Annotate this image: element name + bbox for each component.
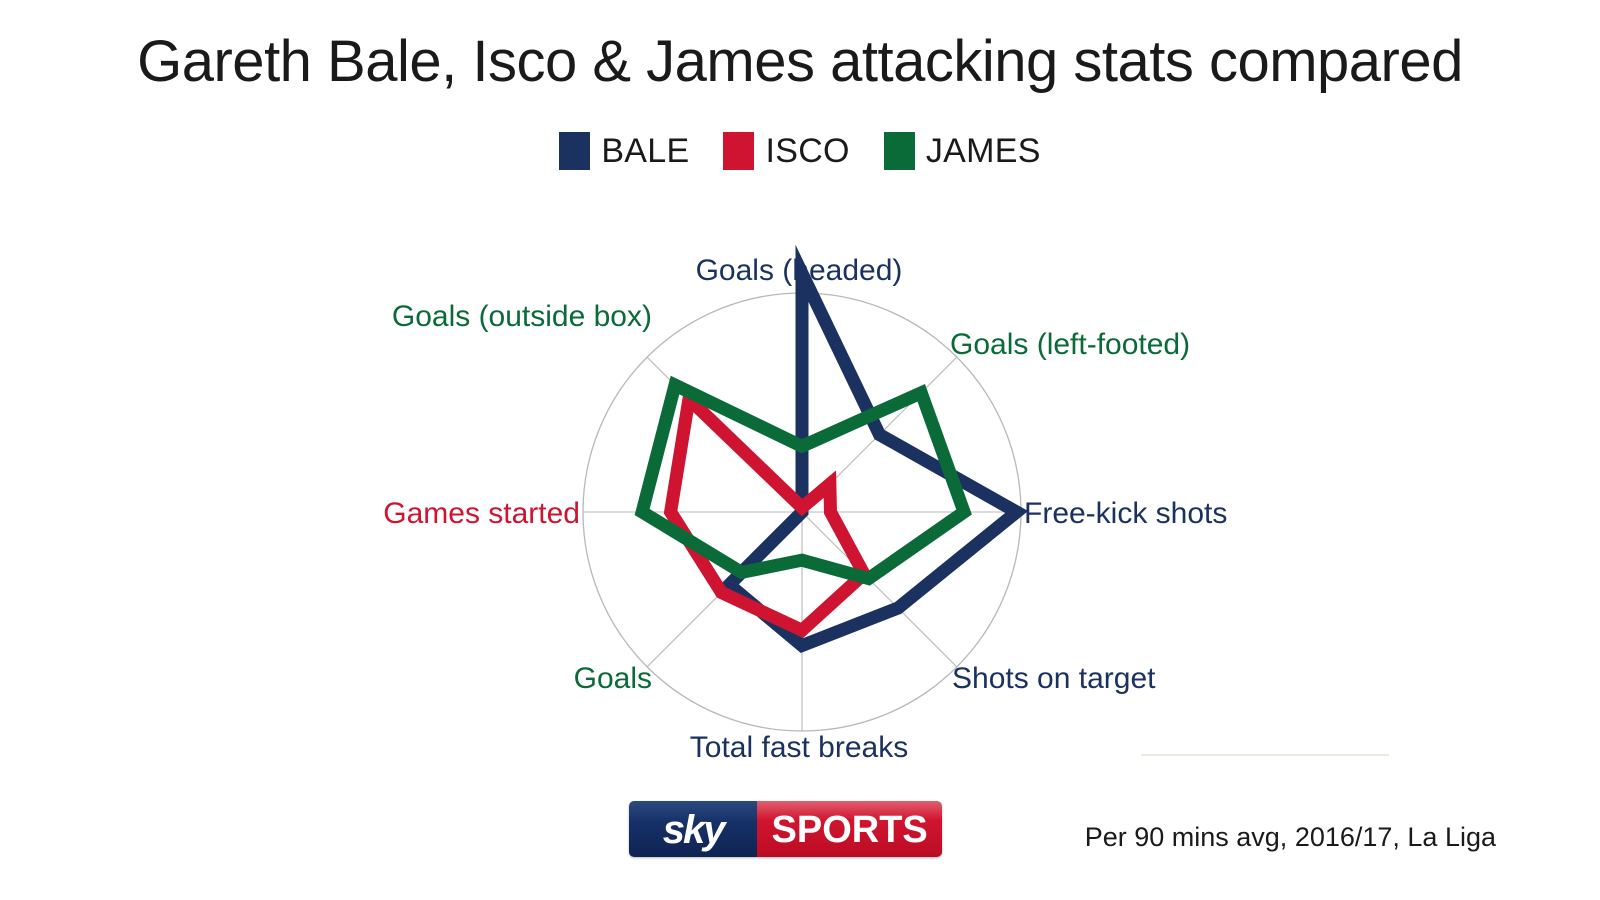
radar-series-james[interactable] bbox=[642, 385, 964, 579]
legend-swatch-isco-icon bbox=[723, 132, 754, 170]
legend-swatch-james-icon bbox=[884, 132, 915, 170]
legend-item-bale[interactable]: BALE bbox=[559, 132, 689, 170]
legend-label-james: JAMES bbox=[926, 134, 1041, 168]
sky-logo-right-panel: SPORTS bbox=[757, 801, 942, 857]
radar-spoke bbox=[647, 512, 802, 667]
radar-axis-label-goals-outside-box: Goals (outside box) bbox=[392, 300, 652, 333]
chart-legend: BALE ISCO JAMES bbox=[0, 132, 1600, 170]
radar-axis-labels: Goals (headed)Goals (left-footed)Free-ki… bbox=[383, 254, 1227, 764]
radar-series-group bbox=[642, 273, 1016, 645]
sky-logo-left-panel: sky bbox=[629, 801, 757, 857]
radar-gridlines bbox=[583, 293, 1021, 731]
radar-spoke bbox=[647, 357, 802, 512]
footnote-divider bbox=[1141, 754, 1389, 756]
sky-sports-logo: sky SPORTS bbox=[629, 801, 942, 857]
radar-spoke bbox=[802, 357, 957, 512]
sky-logo-word: sky bbox=[663, 810, 724, 850]
radar-axis-label-shots-on-target: Shots on target bbox=[952, 662, 1156, 695]
radar-axis-label-goals-left-footed: Goals (left-footed) bbox=[950, 328, 1190, 361]
radar-axis-label-goals-headed: Goals (headed) bbox=[696, 254, 903, 287]
radar-axis-label-total-fast-breaks: Total fast breaks bbox=[690, 731, 908, 764]
footnote-text: Per 90 mins avg, 2016/17, La Liga bbox=[1085, 822, 1496, 853]
sports-logo-word: SPORTS bbox=[772, 811, 928, 849]
legend-item-james[interactable]: JAMES bbox=[884, 132, 1041, 170]
page-title: Gareth Bale, Isco & James attacking stat… bbox=[0, 28, 1600, 95]
radar-axis-label-free-kick-shots: Free-kick shots bbox=[1024, 497, 1227, 530]
legend-label-bale: BALE bbox=[601, 134, 689, 168]
radar-axis-label-games-started: Games started bbox=[383, 497, 580, 530]
radar-axis-label-goals: Goals bbox=[574, 662, 652, 695]
legend-swatch-bale-icon bbox=[559, 132, 590, 170]
radar-spoke bbox=[802, 512, 957, 667]
radar-series-isco[interactable] bbox=[671, 399, 864, 630]
legend-item-isco[interactable]: ISCO bbox=[723, 132, 849, 170]
legend-label-isco: ISCO bbox=[765, 134, 849, 168]
radar-ring bbox=[583, 293, 1021, 731]
radar-series-bale[interactable] bbox=[729, 273, 1016, 645]
